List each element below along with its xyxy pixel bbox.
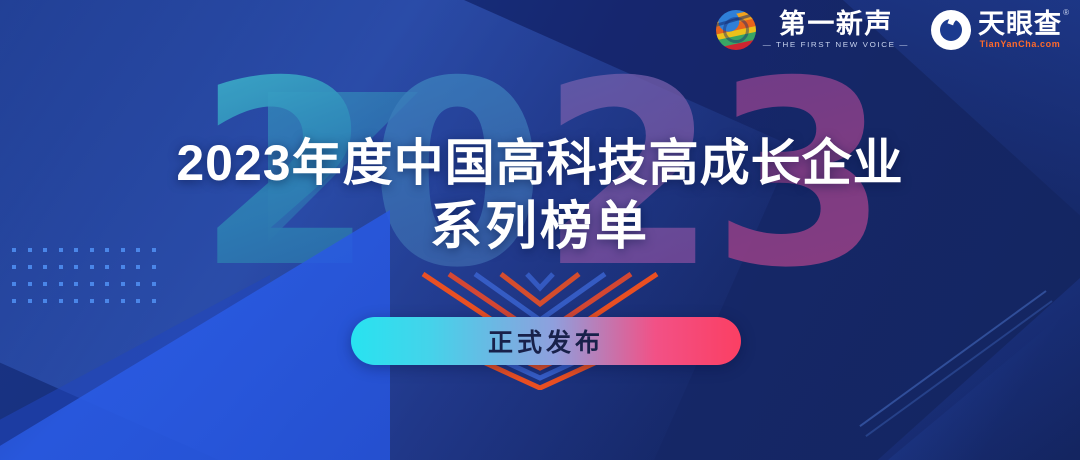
headline-line-1: 2023年度中国高科技高成长企业 — [0, 132, 1080, 195]
globe-ribbon-icon — [716, 10, 756, 50]
logo-diyixinsheng[interactable]: 第一新声 — THE FIRST NEW VOICE — — [716, 10, 909, 50]
diagonal-shape-right-corner — [840, 300, 1080, 460]
logo-diyixinsheng-cn: 第一新声 — [779, 11, 893, 39]
logo-tianyancha-cn-label: 天眼查 — [978, 9, 1062, 39]
logo-diyixinsheng-text: 第一新声 — THE FIRST NEW VOICE — — [763, 11, 909, 50]
eye-aperture-icon — [931, 10, 971, 50]
thin-streak-line-1 — [859, 290, 1046, 427]
logo-bar: 第一新声 — THE FIRST NEW VOICE — 天眼查® TianYa… — [716, 10, 1062, 50]
logo-diyixinsheng-en: — THE FIRST NEW VOICE — — [763, 41, 909, 49]
promo-banner: 2023 第一新声 — THE FIRST NEW VOICE — — [0, 0, 1080, 460]
registered-mark-icon: ® — [1063, 9, 1070, 17]
logo-tianyancha[interactable]: 天眼查® TianYanCha.com — [931, 10, 1062, 50]
dot-grid-row — [12, 282, 156, 286]
logo-tianyancha-en: TianYanCha.com — [980, 39, 1061, 49]
release-cta-button[interactable]: 正式发布 — [351, 317, 741, 365]
headline-block: 2023年度中国高科技高成长企业 系列榜单 — [0, 132, 1080, 261]
headline-line-2: 系列榜单 — [0, 195, 1080, 261]
thin-streak-line-2 — [865, 300, 1052, 437]
logo-tianyancha-cn: 天眼查® — [978, 11, 1062, 39]
dot-grid-row — [12, 265, 156, 269]
dot-grid-row — [12, 299, 156, 303]
logo-tianyancha-text: 天眼查® TianYanCha.com — [978, 11, 1062, 50]
